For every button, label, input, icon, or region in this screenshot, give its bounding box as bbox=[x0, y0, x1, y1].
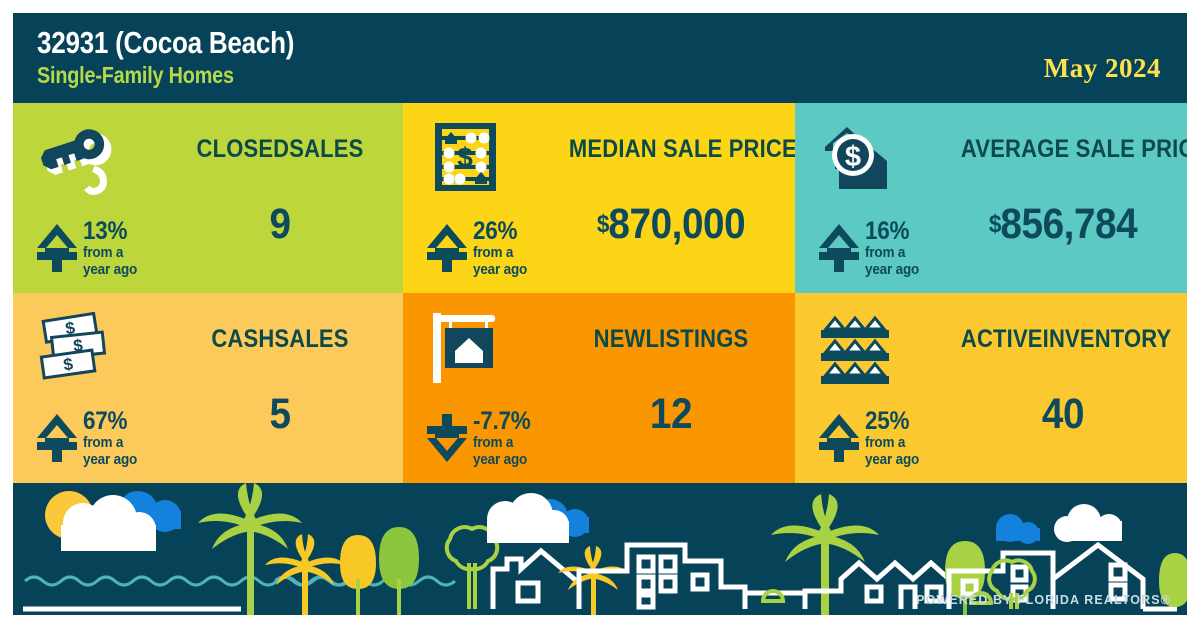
metric-label: NEWLISTINGS bbox=[569, 325, 773, 354]
change-period-line2: year ago bbox=[83, 260, 137, 277]
change-text: 67% from a year ago bbox=[83, 408, 143, 467]
metric-value-number: 12 bbox=[650, 390, 692, 438]
cash-bills-icon: $ $ $ bbox=[35, 307, 121, 387]
change-percent: 67% bbox=[83, 409, 137, 433]
metric-value-number: 40 bbox=[1042, 390, 1084, 438]
page-title: 32931 (Cocoa Beach) bbox=[37, 25, 294, 61]
metric-value-number: 5 bbox=[269, 390, 290, 438]
change-period-line1: from a bbox=[865, 243, 919, 260]
currency-symbol: $ bbox=[597, 210, 609, 238]
change-period-line1: from a bbox=[83, 433, 137, 450]
change-block: -7.7% from a year ago bbox=[425, 408, 537, 467]
change-block: 67% from a year ago bbox=[35, 408, 143, 467]
metric-label: CASHSALES bbox=[179, 325, 381, 354]
change-text: 25% from a year ago bbox=[865, 408, 925, 467]
footer-credit: POWERED BY FLORIDA REALTORS® bbox=[916, 593, 1171, 607]
change-period-line2: year ago bbox=[473, 450, 530, 467]
property-type-subtitle: Single-Family Homes bbox=[37, 61, 300, 89]
metric-value: $870,000 bbox=[567, 199, 776, 249]
title-block: 32931 (Cocoa Beach) Single-Family Homes bbox=[37, 25, 343, 89]
metric-label: AVERAGE SALE PRICE bbox=[961, 135, 1165, 164]
change-text: -7.7% from a year ago bbox=[473, 408, 537, 467]
metric-grid: CLOSEDSALES 9 13% from a year ago bbox=[13, 103, 1187, 483]
metric-value: 12 bbox=[567, 389, 776, 439]
metric-card-active-inventory: ACTIVEINVENTORY 40 25% from a year ago bbox=[795, 293, 1187, 483]
change-period-line2: year ago bbox=[473, 260, 527, 277]
change-block: 26% from a year ago bbox=[425, 218, 533, 277]
svg-text:$: $ bbox=[457, 142, 473, 173]
change-block: 16% from a year ago bbox=[817, 218, 925, 277]
change-period-line2: year ago bbox=[83, 450, 137, 467]
for-sale-sign-icon bbox=[425, 307, 511, 387]
metric-card-median-sale-price: $ MEDIAN SALE PRICE $870,000 26% from a … bbox=[403, 103, 795, 293]
abacus-icon: $ bbox=[425, 117, 511, 197]
change-block: 25% from a year ago bbox=[817, 408, 925, 467]
change-period-line1: from a bbox=[83, 243, 137, 260]
arrow-up-icon bbox=[817, 222, 861, 274]
arrow-up-icon bbox=[425, 222, 469, 274]
arrow-up-icon bbox=[817, 412, 861, 464]
change-percent: 16% bbox=[865, 219, 919, 243]
metric-label: MEDIAN SALE PRICE bbox=[569, 135, 773, 164]
key-icon bbox=[35, 117, 121, 197]
change-percent: -7.7% bbox=[473, 409, 530, 433]
infographic-container: 32931 (Cocoa Beach) Single-Family Homes … bbox=[13, 13, 1187, 615]
svg-text:$: $ bbox=[845, 141, 861, 173]
metric-value: 9 bbox=[177, 199, 384, 249]
metric-card-closed-sales: CLOSEDSALES 9 13% from a year ago bbox=[13, 103, 403, 293]
metric-card-cash-sales: $ $ $ CASHSALES 5 bbox=[13, 293, 403, 483]
change-percent: 13% bbox=[83, 219, 137, 243]
metric-value-number: 856,784 bbox=[1000, 200, 1137, 248]
change-text: 26% from a year ago bbox=[473, 218, 533, 277]
houses-shelf-icon bbox=[817, 307, 903, 387]
metric-card-new-listings: NEWLISTINGS 12 -7.7% from a year ago bbox=[403, 293, 795, 483]
change-period-line1: from a bbox=[473, 433, 530, 450]
change-percent: 26% bbox=[473, 219, 527, 243]
metric-value-number: 9 bbox=[269, 200, 290, 248]
change-text: 16% from a year ago bbox=[865, 218, 925, 277]
header-bar: 32931 (Cocoa Beach) Single-Family Homes … bbox=[13, 13, 1187, 103]
change-percent: 25% bbox=[865, 409, 919, 433]
change-period-line1: from a bbox=[865, 433, 919, 450]
house-dollar-icon: $ bbox=[817, 117, 903, 197]
arrow-down-icon bbox=[425, 412, 469, 464]
metric-value: $856,784 bbox=[959, 199, 1168, 249]
change-period-line2: year ago bbox=[865, 450, 919, 467]
change-block: 13% from a year ago bbox=[35, 218, 143, 277]
metric-label: CLOSEDSALES bbox=[179, 135, 381, 164]
arrow-up-icon bbox=[35, 412, 79, 464]
change-period-line1: from a bbox=[473, 243, 527, 260]
report-date: May 2024 bbox=[1044, 53, 1161, 84]
metric-value: 5 bbox=[177, 389, 384, 439]
metric-card-average-sale-price: $ AVERAGE SALE PRICE $856,784 16% from a… bbox=[795, 103, 1187, 293]
change-period-line2: year ago bbox=[865, 260, 919, 277]
metric-label: ACTIVEINVENTORY bbox=[961, 325, 1165, 354]
arrow-up-icon bbox=[35, 222, 79, 274]
metric-value: 40 bbox=[959, 389, 1168, 439]
change-text: 13% from a year ago bbox=[83, 218, 143, 277]
metric-value-number: 870,000 bbox=[608, 200, 745, 248]
footer-illustration: POWERED BY FLORIDA REALTORS® bbox=[13, 483, 1187, 615]
currency-symbol: $ bbox=[989, 210, 1001, 238]
